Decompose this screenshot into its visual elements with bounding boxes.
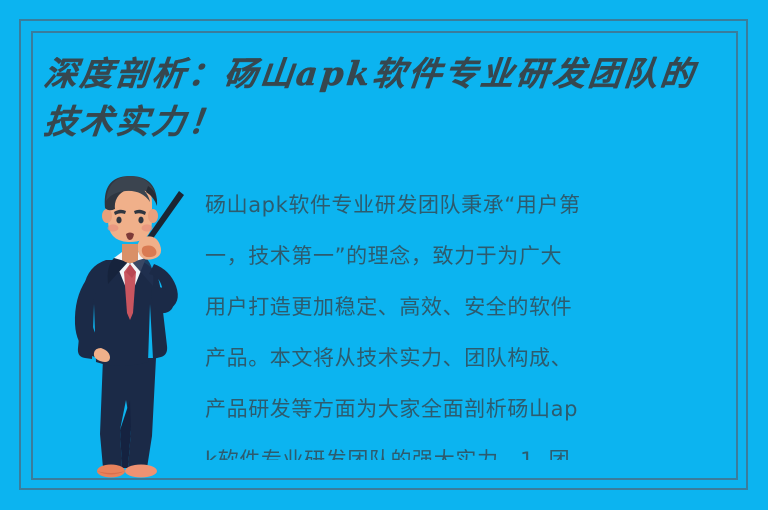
title-line-2: 技术实力！: [41, 98, 746, 146]
body-line: 砀山apk软件专业研发团队秉承“用户第: [205, 180, 740, 231]
ear-left: [102, 209, 112, 223]
eye-right: [138, 217, 143, 224]
body-line: k软件专业研发团队的强大实力。1. 团: [205, 435, 740, 460]
neck: [122, 244, 138, 263]
cheek-right: [142, 224, 153, 231]
body-line: 产品研发等方面为大家全面剖析砀山ap: [205, 384, 740, 435]
shoe-left: [97, 465, 125, 478]
shoe-right: [125, 465, 157, 478]
body-line: 产品。本文将从技术实力、团队构成、: [205, 333, 740, 384]
eye-left: [116, 217, 121, 224]
cheek-left: [108, 224, 119, 231]
ear-right: [148, 209, 158, 223]
page-title: 深度剖析：砀山apk软件专业研发团队的 技术实力！: [44, 50, 744, 146]
body-line: 一，技术第一”的理念，致力于为广大: [205, 231, 740, 282]
body-paragraph: 砀山apk软件专业研发团队秉承“用户第 一，技术第一”的理念，致力于为广大 用户…: [205, 180, 740, 460]
businessman-with-pointer-illustration: [48, 168, 218, 480]
title-line-1: 深度剖析：砀山apk软件专业研发团队的: [41, 50, 746, 98]
poster-canvas: 深度剖析：砀山apk软件专业研发团队的 技术实力！: [0, 0, 768, 510]
body-line: 用户打造更加稳定、高效、安全的软件: [205, 282, 740, 333]
